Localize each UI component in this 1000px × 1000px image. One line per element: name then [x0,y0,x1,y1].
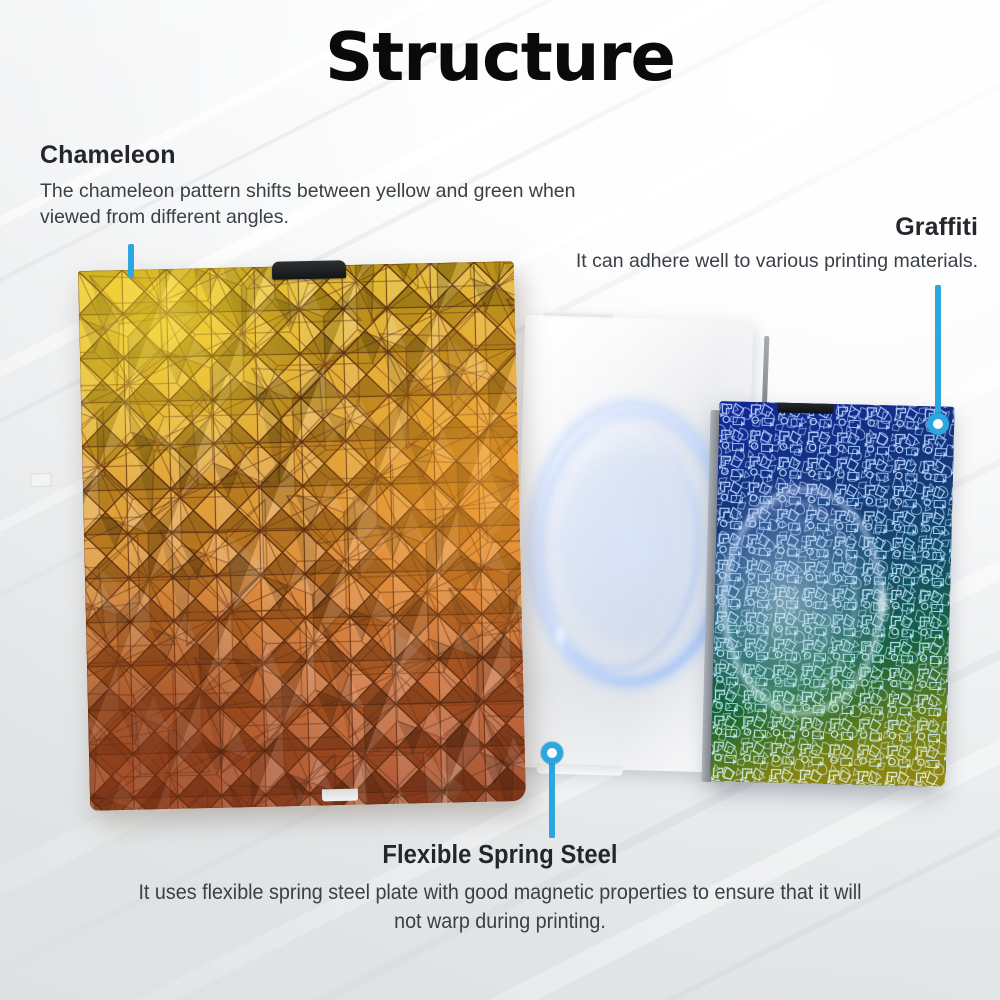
chameleon-plate-foot [322,789,358,802]
chameleon-plate-handle-tab [272,260,346,280]
chameleon-plate [78,261,526,811]
graffiti-pattern [710,401,954,787]
graffiti-plate [710,401,954,787]
chameleon-connector-line [128,244,134,278]
graffiti-plate-handle-tab [777,401,833,414]
spring-steel-connector-dot [541,742,563,764]
graffiti-connector-line [935,285,941,425]
chameleon-description: The chameleon pattern shifts between yel… [40,178,580,230]
chameleon-plate-notch [30,473,52,487]
spring-steel-heading: Flexible Spring Steel [35,841,965,870]
spring-steel-connector-line [549,760,555,838]
spring-steel-description: It uses flexible spring steel plate with… [124,878,876,936]
graffiti-description: It can adhere well to various printing m… [458,248,978,274]
infographic-canvas: Structure Chameleon The chameleon patter… [0,0,1000,1000]
graffiti-connector-dot [927,413,949,435]
graffiti-heading: Graffiti [895,213,978,242]
chameleon-color-shift-overlay [78,261,526,811]
page-title: Structure [0,18,1000,96]
chameleon-heading: Chameleon [40,141,176,170]
